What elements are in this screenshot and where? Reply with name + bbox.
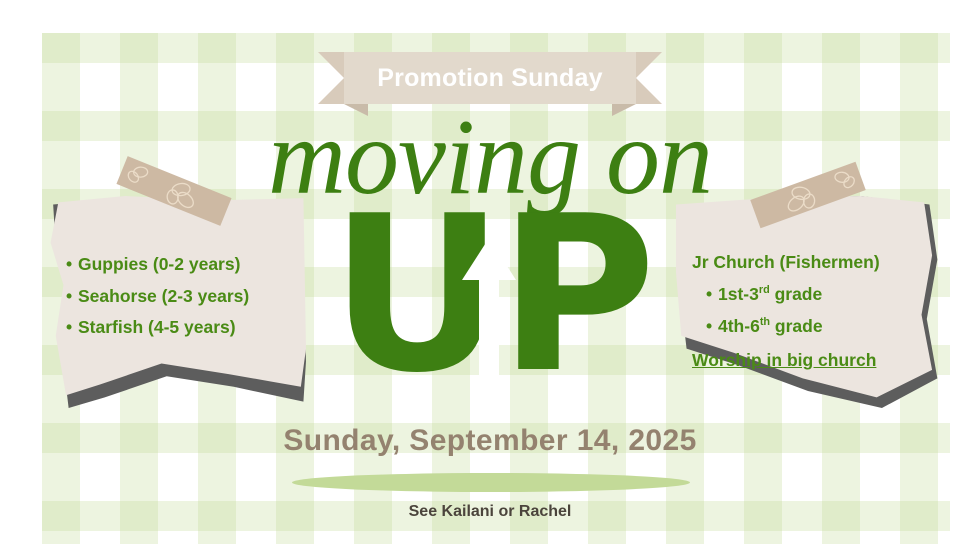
left-card-content: •Guppies (0-2 years) •Seahorse (2-3 year… — [48, 196, 306, 408]
list-item-label: 4th-6 — [718, 316, 760, 336]
list-item: •Guppies (0-2 years) — [66, 256, 306, 274]
background-margin-top — [0, 0, 980, 33]
list-item: •Starfish (4-5 years) — [66, 319, 306, 337]
right-card-title: Jr Church (Fishermen) — [692, 252, 940, 273]
ribbon-band: Promotion Sunday — [344, 52, 636, 104]
background-margin-bottom — [0, 544, 980, 560]
right-torn-card: Jr Church (Fishermen) •1st-3rd grade •4t… — [676, 196, 940, 408]
list-item-label: 1st-3 — [718, 284, 759, 304]
list-item: •Seahorse (2-3 years) — [66, 288, 306, 306]
ribbon-label: Promotion Sunday — [377, 64, 602, 93]
list-item-label: Seahorse (2-3 years) — [78, 286, 249, 306]
bullet-icon: • — [706, 286, 718, 304]
list-item-superscript: th — [760, 316, 770, 328]
date-underline-ellipse — [292, 473, 690, 492]
bullet-icon: • — [706, 318, 718, 336]
event-date: Sunday, September 14, 2025 — [0, 424, 980, 458]
contact-byline: See Kailani or Rachel — [0, 503, 980, 521]
bullet-icon: • — [66, 319, 78, 337]
promotion-sunday-poster: Promotion Sunday moving on UP •Guppies (… — [0, 0, 980, 560]
bullet-icon: • — [66, 288, 78, 306]
right-card-content: Jr Church (Fishermen) •1st-3rd grade •4t… — [676, 196, 940, 408]
ribbon-banner: Promotion Sunday — [318, 52, 662, 104]
list-item-label: Starfish (4-5 years) — [78, 317, 236, 337]
bullet-icon: • — [66, 256, 78, 274]
list-item: •1st-3rd grade — [706, 285, 940, 303]
list-item-tail: grade — [770, 316, 823, 336]
preschool-class-list: •Guppies (0-2 years) •Seahorse (2-3 year… — [66, 256, 306, 337]
left-torn-card: •Guppies (0-2 years) •Seahorse (2-3 year… — [48, 196, 306, 408]
list-item-label: Guppies (0-2 years) — [78, 254, 240, 274]
list-item-superscript: rd — [759, 284, 770, 296]
right-card-footer-note: Worship in big church — [692, 350, 940, 371]
list-item-tail: grade — [770, 284, 823, 304]
grade-class-list: •1st-3rd grade •4th-6th grade — [690, 285, 940, 336]
list-item: •4th-6th grade — [706, 317, 940, 335]
